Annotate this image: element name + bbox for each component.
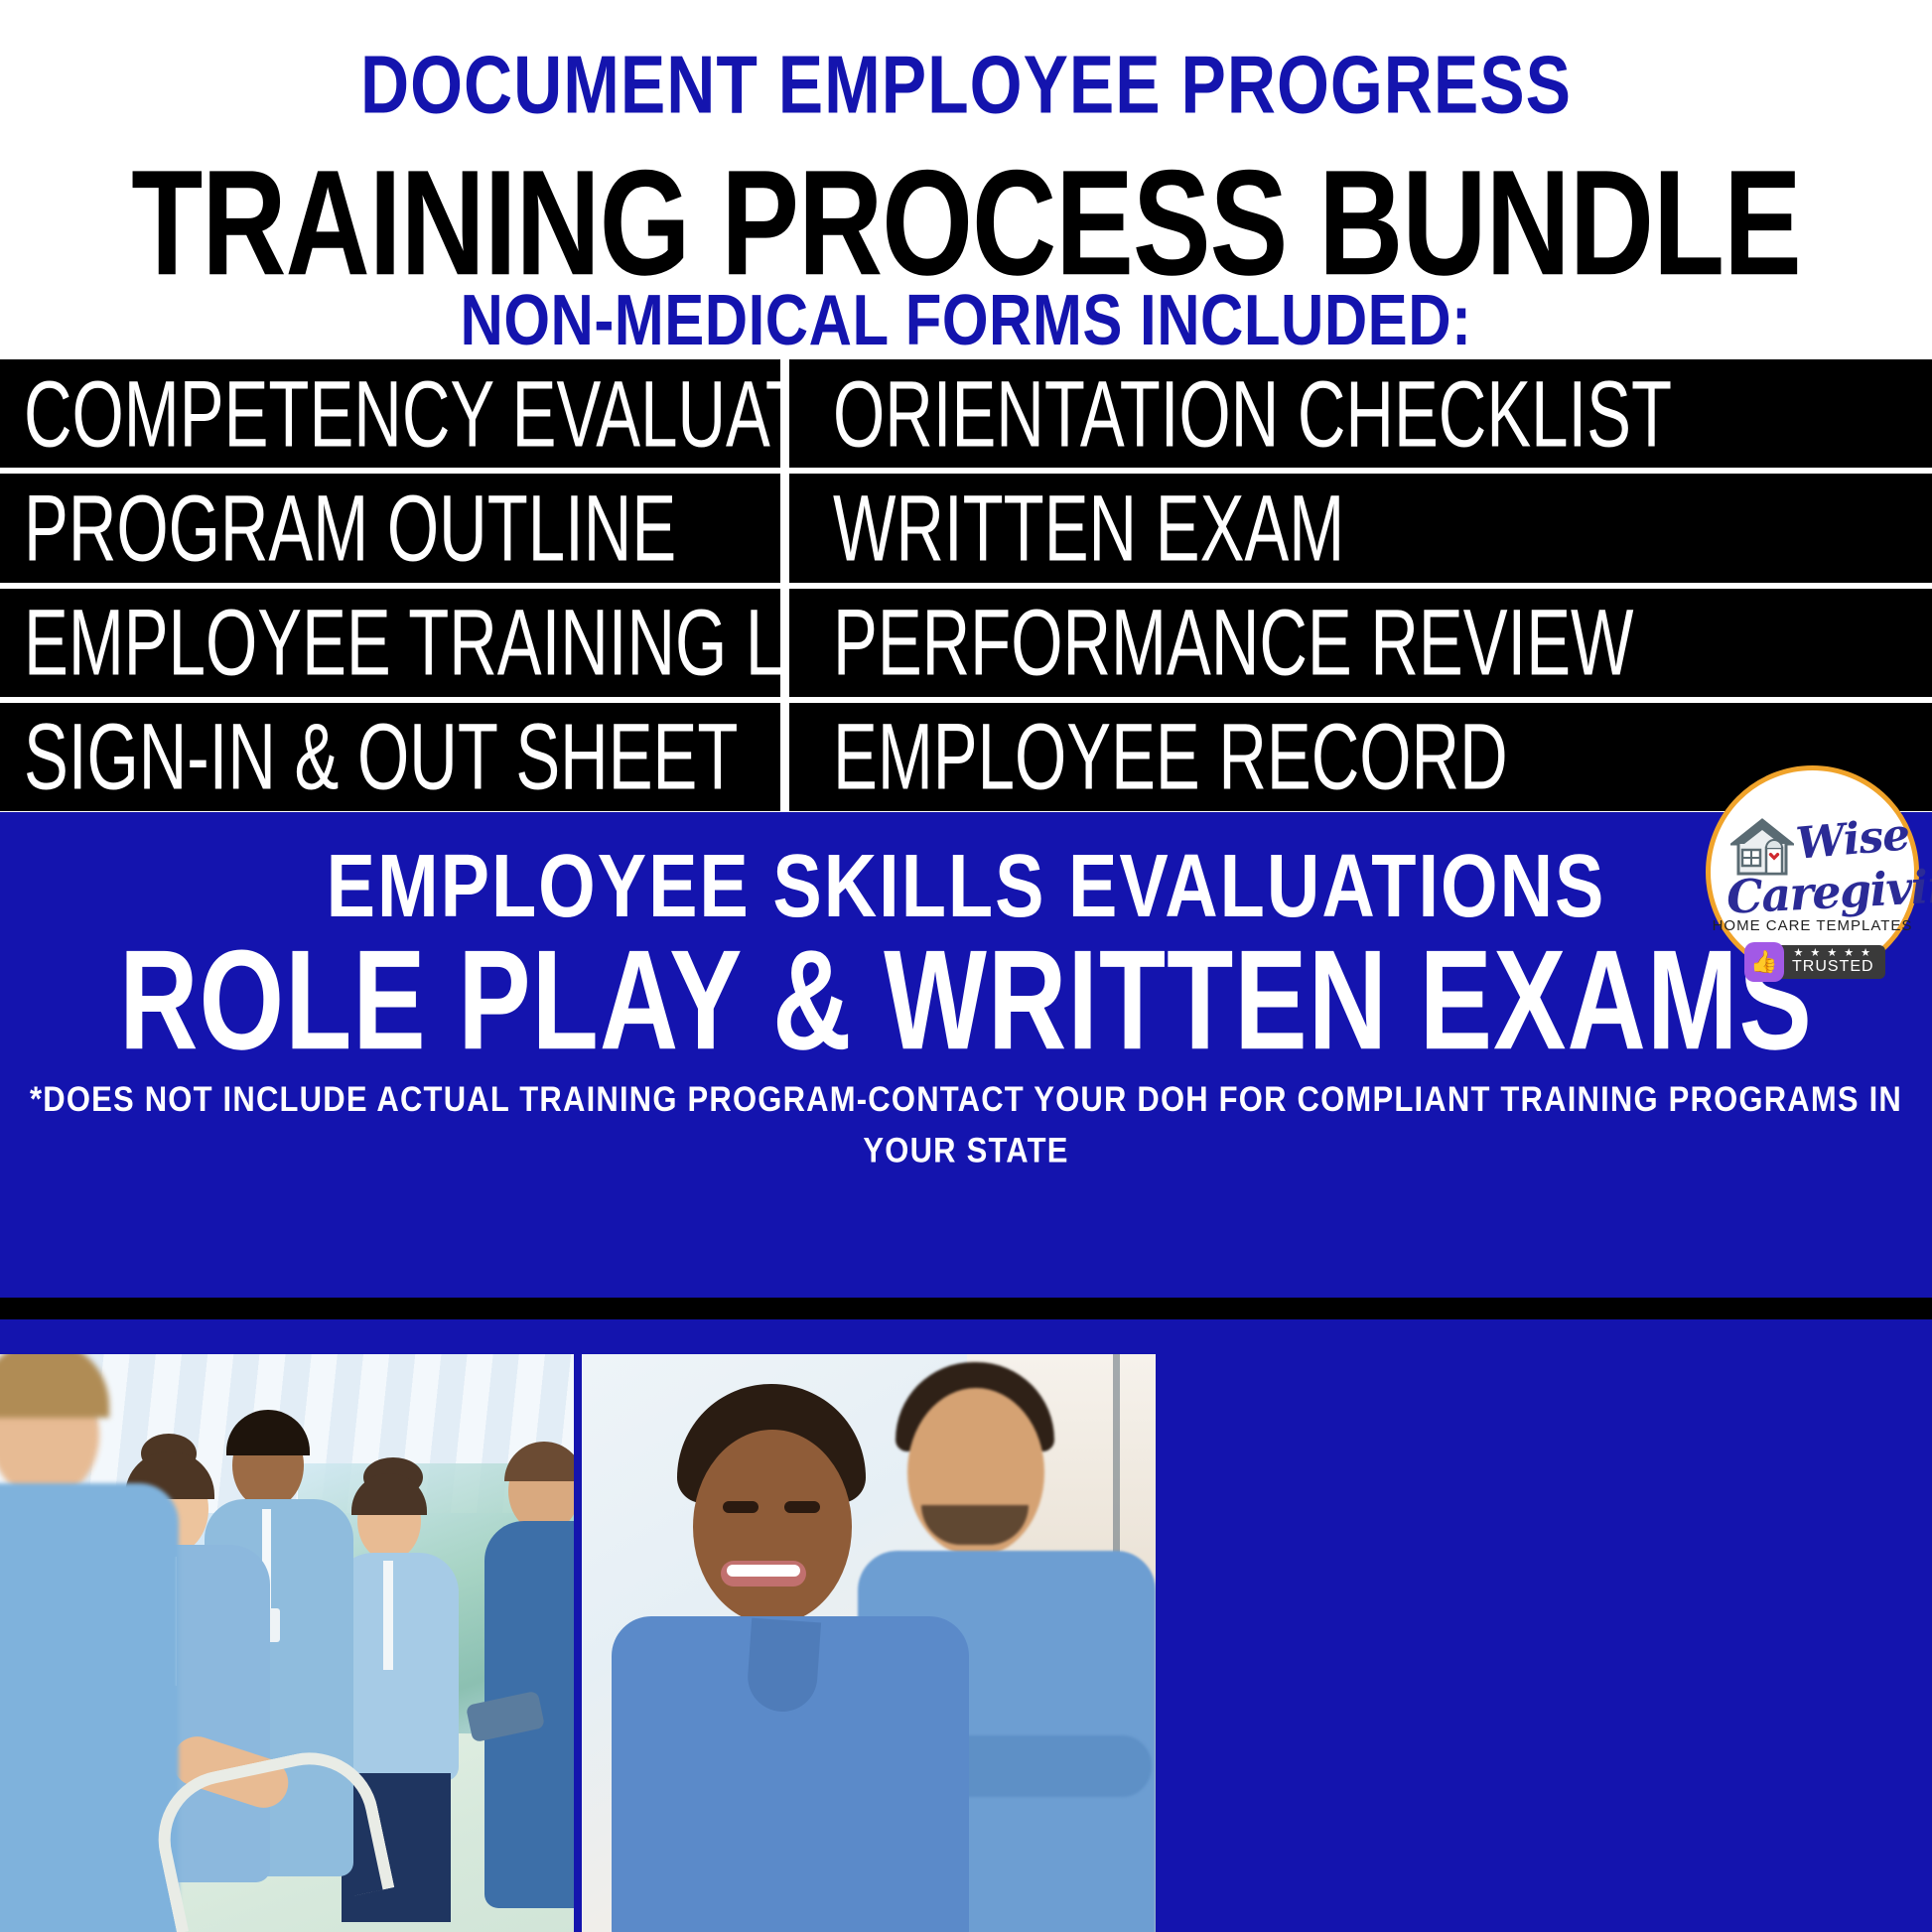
form-item-label: EMPLOYEE TRAINING LOG — [24, 589, 780, 696]
banner-disclaimer: *DOES NOT INCLUDE ACTUAL TRAINING PROGRA… — [0, 1074, 1932, 1176]
form-item-label: WRITTEN EXAM — [833, 475, 1344, 582]
forms-included-grid: COMPETENCY EVALUATION ORIENTATION CHECKL… — [0, 359, 1932, 811]
bottom-media-strip: ENTER COMPANY LOGO/PHOTO RT. CLICK IMAGE… — [0, 1340, 1932, 1932]
form-item-label: PROGRAM OUTLINE — [24, 475, 676, 582]
form-item-label: COMPETENCY EVALUATION — [24, 360, 780, 468]
wise-caregiving-logo-badge: Wise Caregiving HOME CARE TEMPLATES 👍 ★ … — [1706, 765, 1919, 979]
form-item-performance-review: PERFORMANCE REVIEW — [789, 589, 1932, 697]
photo-nursing-team — [0, 1354, 574, 1932]
thumbs-up-icon: 👍 — [1744, 942, 1784, 982]
form-item-competency-evaluation: COMPETENCY EVALUATION — [0, 359, 780, 468]
banner-headline-secondary: ROLE PLAY & WRITTEN EXAMS — [0, 918, 1932, 1082]
trusted-label: TRUSTED — [1792, 959, 1874, 975]
forms-row: SIGN-IN & OUT SHEET EMPLOYEE RECORD — [0, 703, 1932, 811]
figure — [488, 1449, 574, 1916]
poster-canvas: DOCUMENT EMPLOYEE PROGRESS TRAINING PROC… — [0, 0, 1932, 1932]
poster-subtitle: NON-MEDICAL FORMS INCLUDED: — [0, 279, 1932, 361]
logo-word-wise: Wise — [1794, 809, 1911, 870]
figure-female — [631, 1390, 969, 1932]
form-item-label: ORIENTATION CHECKLIST — [833, 360, 1672, 468]
photo-smiling-caregivers — [582, 1354, 1156, 1932]
form-item-employee-training-log: EMPLOYEE TRAINING LOG — [0, 589, 780, 697]
skills-evaluation-banner: EMPLOYEE SKILLS EVALUATIONS ROLE PLAY & … — [0, 812, 1932, 1340]
form-item-label: EMPLOYEE RECORD — [833, 703, 1508, 810]
forms-row: EMPLOYEE TRAINING LOG PERFORMANCE REVIEW — [0, 589, 1932, 697]
form-item-program-outline: PROGRAM OUTLINE — [0, 474, 780, 582]
forms-row: COMPETENCY EVALUATION ORIENTATION CHECKL… — [0, 359, 1932, 468]
forms-row: PROGRAM OUTLINE WRITTEN EXAM — [0, 474, 1932, 582]
trusted-badge: 👍 ★ ★ ★ ★ ★ TRUSTED — [1744, 942, 1885, 982]
form-item-written-exam: WRITTEN EXAM — [789, 474, 1932, 582]
banner-bottom-rule — [0, 1298, 1932, 1319]
form-item-label: PERFORMANCE REVIEW — [833, 589, 1633, 696]
form-item-label: SIGN-IN & OUT SHEET — [24, 703, 738, 810]
logo-tagline: HOME CARE TEMPLATES — [1711, 917, 1914, 934]
trusted-pill: ★ ★ ★ ★ ★ TRUSTED — [1774, 945, 1885, 979]
form-item-orientation-checklist: ORIENTATION CHECKLIST — [789, 359, 1932, 468]
form-item-sign-in-out-sheet: SIGN-IN & OUT SHEET — [0, 703, 780, 811]
poster-eyebrow: DOCUMENT EMPLOYEE PROGRESS — [0, 38, 1932, 132]
